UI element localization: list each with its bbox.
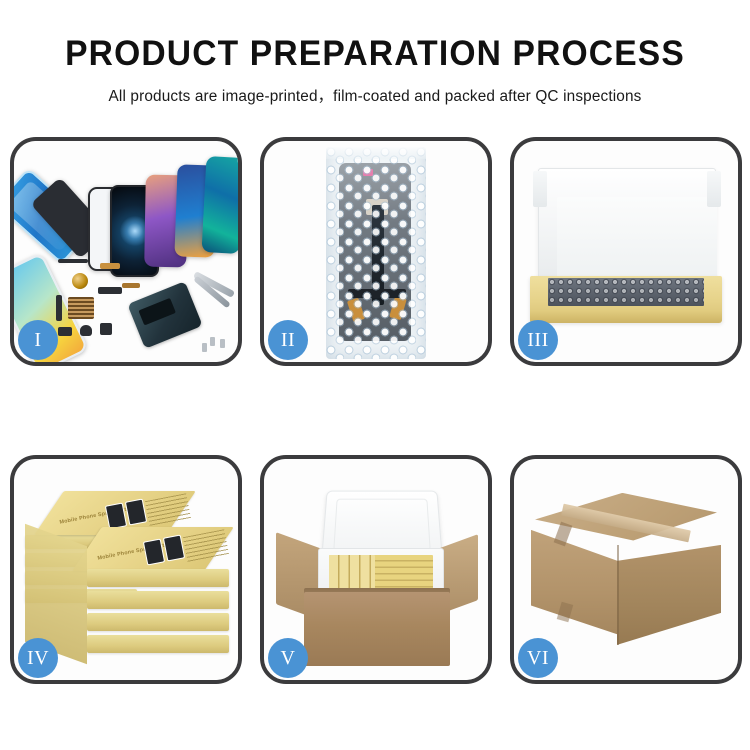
step-badge-1: I [18, 320, 58, 360]
button-flex-part [100, 263, 120, 269]
step-panel-5: V [260, 455, 492, 684]
sim-tray-part [58, 327, 72, 336]
screw-part [210, 337, 215, 346]
stacked-box [87, 591, 229, 609]
header: PRODUCT PREPARATION PROCESS All products… [0, 0, 750, 120]
step-panel-3: III [510, 137, 742, 366]
flex-cable-part [58, 259, 88, 263]
bag-seal-lip [326, 147, 426, 159]
teal-swirl-phone [202, 156, 238, 254]
carton-body [304, 592, 450, 666]
carton-left-face [531, 530, 619, 635]
antenna-flex-part [122, 283, 140, 288]
carton-right-face [617, 545, 721, 645]
screw-part [220, 339, 225, 348]
stack-box-lid-second: Mobile Phone Spare Parts [87, 527, 219, 571]
box-stack-group: Mobile Phone Spare Parts Mobile Phone Sp… [23, 483, 229, 665]
logic-board-part [68, 297, 94, 319]
product-preparation-infographic: PRODUCT PREPARATION PROCESS All products… [0, 0, 750, 750]
step-badge-2: II [268, 320, 308, 360]
step-badge-5: V [268, 638, 308, 678]
opened-phone-chassis [127, 281, 202, 349]
page-title: PRODUCT PREPARATION PROCESS [15, 34, 735, 74]
kraft-tray-group [528, 164, 724, 340]
vibrator-part [80, 325, 92, 336]
step-panel-6: VI [510, 455, 742, 684]
foam-sheet [557, 197, 717, 283]
tray-lid-flap [538, 168, 716, 288]
page-subtitle: All products are image-printed，film-coat… [4, 84, 747, 106]
connector-part [98, 287, 122, 294]
ribbon-cable-part [56, 295, 62, 321]
step-badge-6: VI [518, 638, 558, 678]
tray-front-edge [530, 310, 722, 323]
stacked-box [87, 635, 229, 653]
step-panel-4: Mobile Phone Spare Parts Mobile Phone Sp… [10, 455, 242, 684]
bubble-wrapped-contents [548, 278, 704, 306]
stacked-box [87, 613, 229, 631]
sealed-carton-group [531, 493, 721, 655]
step-badge-3: III [518, 320, 558, 360]
bubble-wrap-bag [326, 147, 426, 359]
carton-seam-top [554, 522, 573, 547]
step-badge-4: IV [18, 638, 58, 678]
carton-group [280, 488, 472, 668]
step-panel-1: I [10, 137, 242, 366]
speaker-coil-part [72, 273, 88, 289]
carton-corner-edge [617, 545, 619, 645]
step-panel-2: II [260, 137, 492, 366]
screw-part [202, 343, 207, 352]
steps-grid: I II [10, 137, 742, 687]
bubble-texture [326, 147, 426, 359]
camera-module-part [100, 323, 112, 335]
stacked-box [87, 569, 229, 587]
